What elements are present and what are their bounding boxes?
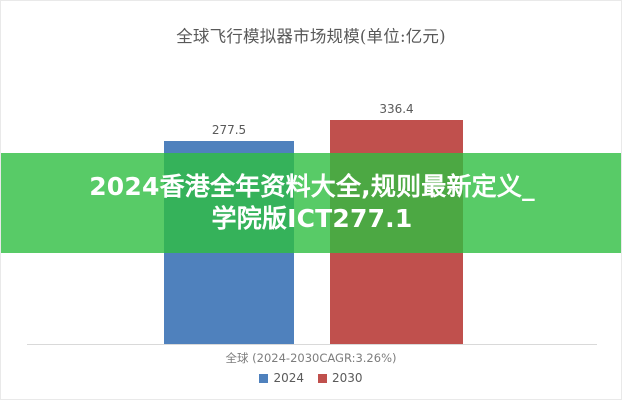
chart-screenshot: 全球飞行模拟器市场规模(单位:亿元) 336.4 277.5 全球 (2024-… — [0, 0, 622, 400]
watermark-banner: 2024香港全年资料大全,规则最新定义_ 学院版ICT277.1 — [1, 153, 622, 253]
watermark-line-2: 学院版ICT277.1 — [212, 204, 413, 233]
legend-label-2024: 2024 — [273, 372, 304, 384]
chart-legend: 2024 2030 — [1, 372, 621, 384]
watermark-line-1: 2024香港全年资料大全,规则最新定义_ — [89, 172, 535, 201]
legend-swatch-icon-2024 — [259, 374, 268, 383]
legend-item-2024[interactable]: 2024 — [259, 372, 304, 384]
x-axis-category-label: 全球 (2024-2030CAGR:3.26%) — [1, 350, 621, 366]
bar-value-label-2024: 277.5 — [164, 123, 294, 137]
legend-label-2030: 2030 — [332, 372, 363, 384]
chart-title: 全球飞行模拟器市场规模(单位:亿元) — [1, 23, 621, 47]
legend-item-2030[interactable]: 2030 — [318, 372, 363, 384]
legend-swatch-icon-2030 — [318, 374, 327, 383]
bar-value-label-2030: 336.4 — [330, 102, 463, 116]
watermark-banner-text: 2024香港全年资料大全,规则最新定义_ 学院版ICT277.1 — [81, 171, 543, 235]
x-axis-line — [27, 344, 597, 345]
